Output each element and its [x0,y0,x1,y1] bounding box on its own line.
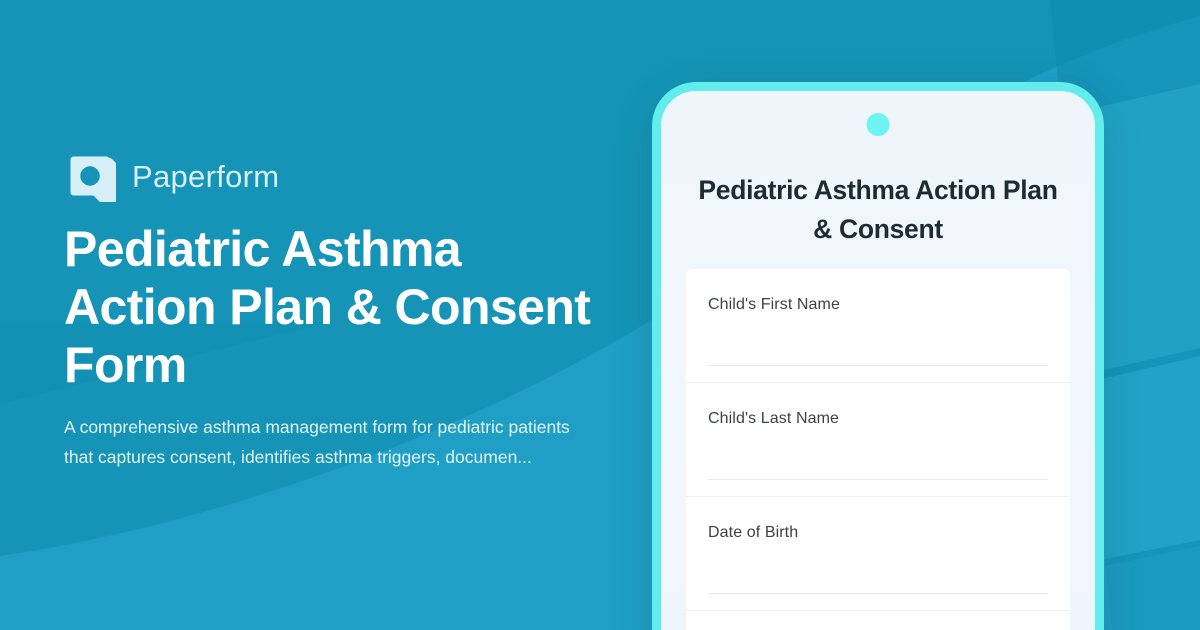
form-title: Pediatric Asthma Action Plan & Consent [687,171,1069,249]
phone-screen: Pediatric Asthma Action Plan & Consent C… [661,91,1095,630]
form-field-card[interactable] [686,611,1070,630]
form-field-label: Child's Last Name [708,409,1048,429]
form-field-input[interactable] [708,479,1048,480]
form-field-list: Child's First NameChild's Last NameDate … [686,269,1070,630]
brand-lockup: Paperform [64,148,279,204]
form-field-card[interactable]: Child's First Name [686,269,1070,383]
camera-dot-icon [867,113,890,136]
form-field-card[interactable]: Child's Last Name [686,383,1070,497]
form-field-label: Date of Birth [708,523,1048,543]
form-field-input[interactable] [708,593,1048,594]
page-title: Pediatric Asthma Action Plan & Consent F… [64,220,604,394]
form-field-input[interactable] [708,365,1048,366]
brand-name: Paperform [132,161,279,192]
share-preview-card: Paperform Pediatric Asthma Action Plan &… [0,0,1200,630]
paperform-logo-icon [64,150,116,202]
form-field-label: Child's First Name [708,295,1048,315]
phone-mockup: Pediatric Asthma Action Plan & Consent C… [652,82,1104,630]
hero-content: Paperform Pediatric Asthma Action Plan &… [64,0,624,630]
form-field-card[interactable]: Date of Birth [686,497,1070,611]
page-description: A comprehensive asthma management form f… [64,412,574,472]
